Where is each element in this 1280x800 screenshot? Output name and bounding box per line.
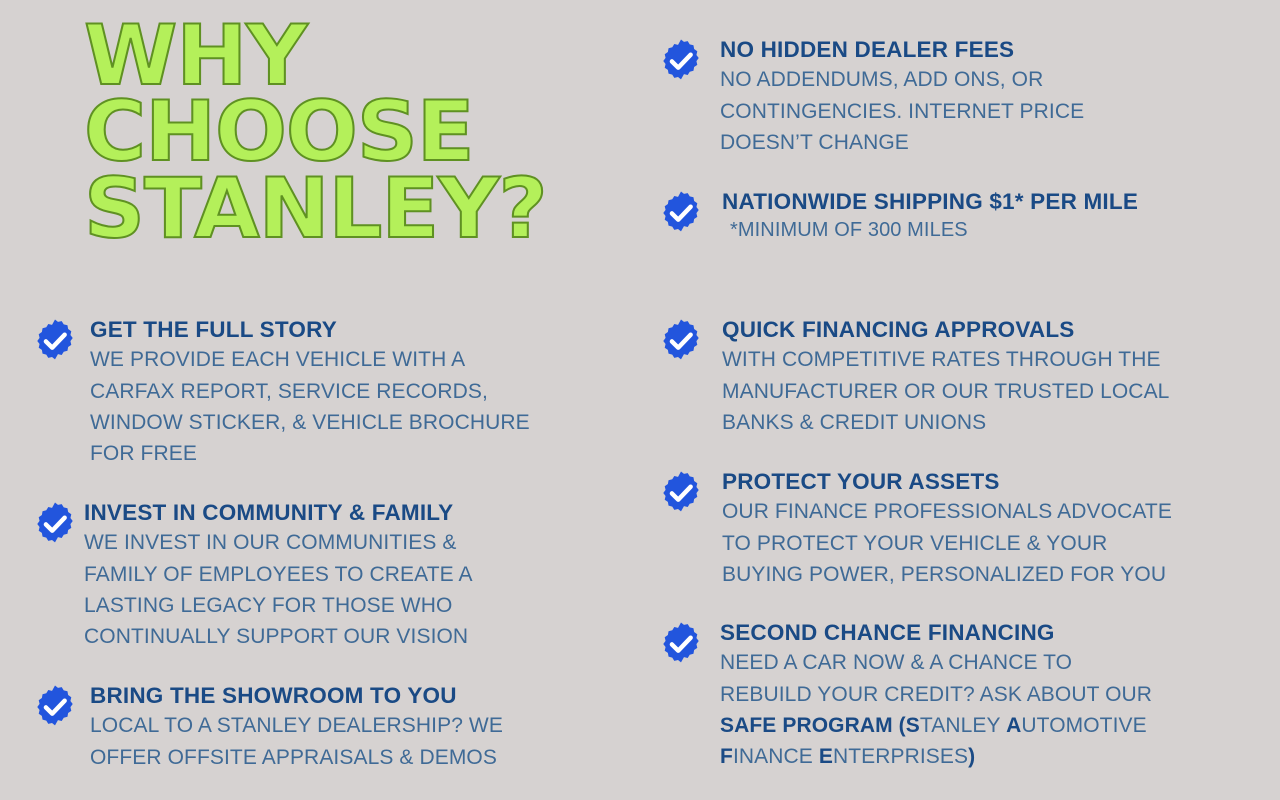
feature-description: WE INVEST IN OUR COMMUNITIES & FAMILY OF… (84, 527, 629, 651)
check-badge-icon (658, 621, 704, 667)
feature-description: WITH COMPETITIVE RATES THROUGH THE MANUF… (722, 344, 1252, 437)
feature-description: OUR FINANCE PROFESSIONALS ADVOCATE TO PR… (722, 496, 1252, 589)
feature-text-block: NO HIDDEN DEALER FEES NO ADDENDUMS, ADD … (720, 36, 1250, 158)
feature-footnote: *MINIMUM OF 300 MILES (722, 216, 1242, 245)
why-choose-stanley-poster: WHY CHOOSE STANLEY? GET THE FULL STORY W… (0, 0, 1280, 800)
feature-description: LOCAL TO A STANLEY DEALERSHIP? WE OFFER … (90, 710, 630, 772)
feature-text-block: GET THE FULL STORY WE PROVIDE EACH VEHIC… (90, 316, 630, 469)
check-badge-icon (32, 318, 78, 364)
feature-text-block: QUICK FINANCING APPROVALS WITH COMPETITI… (722, 316, 1252, 438)
check-badge-icon (32, 684, 78, 730)
check-badge-icon (658, 38, 704, 84)
feature-text-block: INVEST IN COMMUNITY & FAMILY WE INVEST I… (84, 499, 629, 652)
feature-title: NO HIDDEN DEALER FEES (720, 36, 1250, 63)
feature-description: NEED A CAR NOW & A CHANCE TOREBUILD YOUR… (720, 647, 1250, 771)
check-badge-icon (32, 501, 78, 547)
feature-text-block: NATIONWIDE SHIPPING $1* PER MILE *MINIMU… (722, 188, 1242, 245)
feature-description: WE PROVIDE EACH VEHICLE WITH A CARFAX RE… (90, 344, 630, 468)
feature-title: SECOND CHANCE FINANCING (720, 619, 1250, 646)
page-title: WHY CHOOSE STANLEY? (84, 18, 614, 247)
feature-title: NATIONWIDE SHIPPING $1* PER MILE (722, 188, 1242, 215)
feature-title: INVEST IN COMMUNITY & FAMILY (84, 499, 629, 526)
feature-title: PROTECT YOUR ASSETS (722, 468, 1252, 495)
feature-text-block: SECOND CHANCE FINANCING NEED A CAR NOW &… (720, 619, 1250, 772)
feature-title: BRING THE SHOWROOM TO YOU (90, 682, 630, 709)
feature-title: QUICK FINANCING APPROVALS (722, 316, 1252, 343)
feature-description: NO ADDENDUMS, ADD ONS, OR CONTINGENCIES.… (720, 64, 1250, 157)
check-badge-icon (658, 470, 704, 516)
check-badge-icon (658, 190, 704, 236)
feature-text-block: BRING THE SHOWROOM TO YOU LOCAL TO A STA… (90, 682, 630, 773)
feature-text-block: PROTECT YOUR ASSETS OUR FINANCE PROFESSI… (722, 468, 1252, 590)
check-badge-icon (658, 318, 704, 364)
feature-title: GET THE FULL STORY (90, 316, 630, 343)
